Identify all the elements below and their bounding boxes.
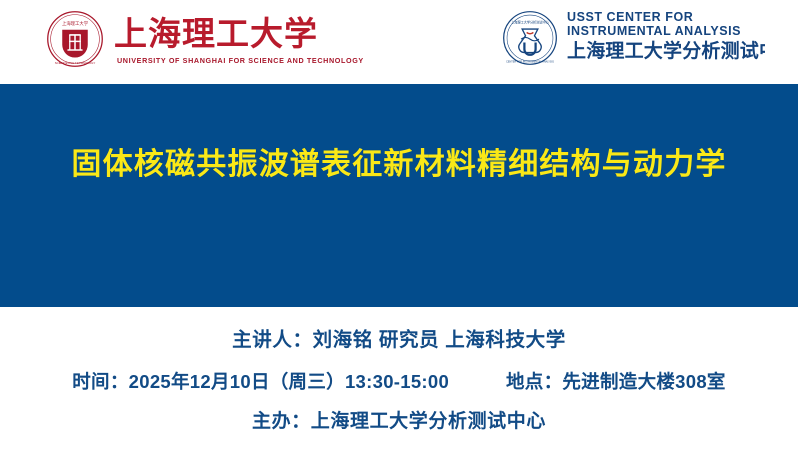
svg-text:上海理工大学: 上海理工大学: [114, 14, 318, 53]
speaker-line: 主讲人：刘海铭 研究员 上海科技大学: [0, 325, 798, 355]
svg-text:CENTER FOR INSTRUMENTAL ANALYS: CENTER FOR INSTRUMENTAL ANALYSIS: [506, 61, 554, 64]
cia-name-cn: 上海理工大学分析测试中心: [567, 39, 765, 66]
lecture-details: 主讲人：刘海铭 研究员 上海科技大学 时间：2025年12月10日（周三）13:…: [0, 312, 798, 437]
place-text: 地点：先进制造大楼308室: [506, 371, 726, 392]
lecture-title: 固体核磁共振波谱表征新材料精细结构与动力学: [0, 146, 798, 184]
title-banner: 固体核磁共振波谱表征新材料精细结构与动力学 ——分析测试技术“月月讲”系列讲座: [0, 84, 798, 307]
usst-university-logo: 上海理工大学 SCIENCE AND TECHNOLOGY 上海理工大学 Uni…: [46, 10, 364, 68]
usst-university-wordmark: 上海理工大学 University of Shanghai for Scienc…: [114, 14, 364, 65]
time-and-place-line: 时间：2025年12月10日（周三）13:30-15:00 地点：先进制造大楼3…: [0, 367, 798, 397]
time-text: 时间：2025年12月10日（周三）13:30-15:00: [72, 371, 449, 392]
organizer-line: 主办：上海理工大学分析测试中心: [0, 407, 798, 437]
usst-university-seal-icon: 上海理工大学 SCIENCE AND TECHNOLOGY: [46, 10, 104, 68]
instrumental-analysis-center-wordmark: USST CENTER FOR INSTRUMENTAL ANALYSIS 上海…: [567, 10, 765, 66]
header-logo-bar: 上海理工大学 SCIENCE AND TECHNOLOGY 上海理工大学 Uni…: [0, 0, 798, 84]
lecture-poster: 上海理工大学 SCIENCE AND TECHNOLOGY 上海理工大学 Uni…: [0, 0, 798, 449]
cia-name-en-line1: USST CENTER FOR: [567, 10, 765, 24]
cia-name-en-line2: INSTRUMENTAL ANALYSIS: [567, 24, 765, 38]
svg-text:上海理工大学: 上海理工大学: [62, 20, 89, 27]
svg-text:上海理工大学分析测试中心: 上海理工大学分析测试中心: [567, 39, 765, 61]
usst-instrumental-analysis-seal-icon: 上海理工大学分析测试中心 CENTER FOR INSTRUMENTAL ANA…: [502, 10, 558, 66]
svg-text:SCIENCE AND TECHNOLOGY: SCIENCE AND TECHNOLOGY: [55, 61, 96, 65]
instrumental-analysis-center-logo: 上海理工大学分析测试中心 CENTER FOR INSTRUMENTAL ANA…: [502, 10, 765, 66]
usst-university-name-cn: 上海理工大学: [114, 14, 364, 54]
usst-university-name-en: University of Shanghai for Science and T…: [117, 56, 364, 65]
svg-text:上海理工大学分析测试中心: 上海理工大学分析测试中心: [511, 19, 549, 24]
